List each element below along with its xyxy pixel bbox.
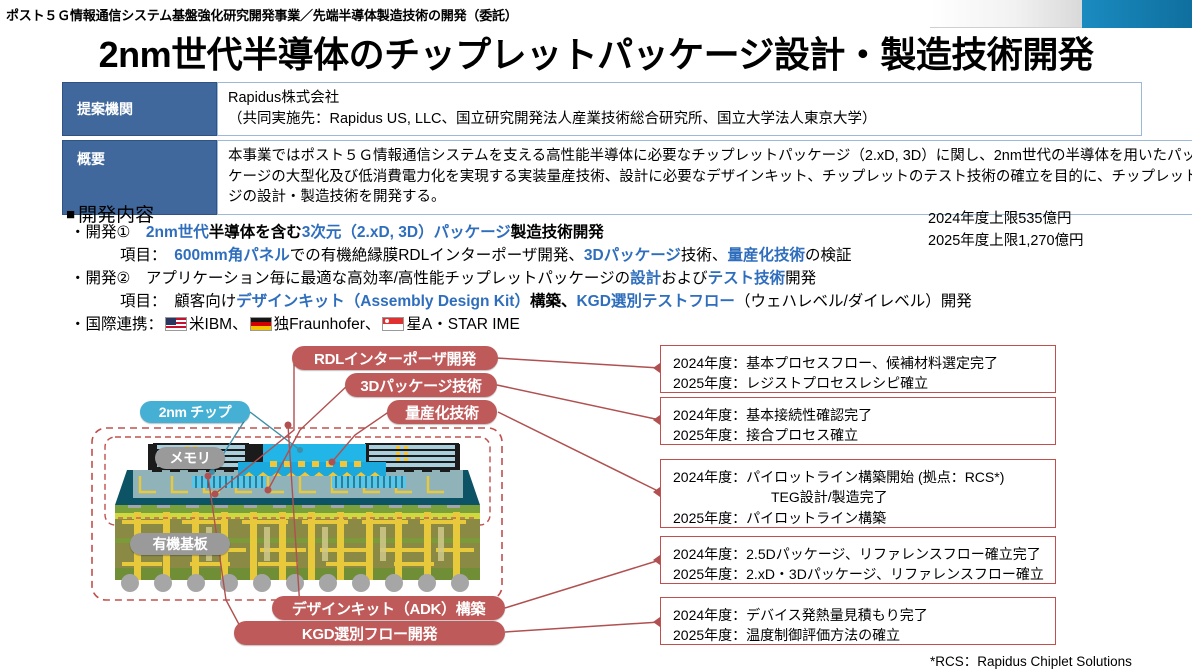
pill-kgd-flow-label: KGD選別フロー開発 [302,623,437,644]
square-bullet-icon: ■ [66,206,75,223]
pill-mass-production-label: 量産化技術 [405,402,479,423]
callout-adk: 2024年度：2.5Dパッケージ、リファレンスフロー確立完了 2025年度：2.… [660,536,1056,584]
row-value-overview: 本事業ではポスト５Ｇ情報通信システムを支える高性能半導体に必要なチップレットパッ… [217,140,1192,215]
dev-line-5: ・国際連携：米IBM、独Fraunhofer、星A・STAR IME [70,314,930,337]
label-organic-substrate: 有機基板 [130,533,230,555]
page-title: 2nm世代半導体のチップレットパッケージ設計・製造技術開発 [0,26,1192,78]
proposer-line-2: （共同実施先：Rapidus US, LLC、国立研究開発法人産業技術総合研究所… [228,109,1131,130]
dev5-prefix: ・国際連携： [70,316,163,333]
callout-3d-line-1: 2024年度：基本接続性確認完了 [673,405,1043,425]
table-row-overview: 概要 本事業ではポスト５Ｇ情報通信システムを支える高性能半導体に必要なチップレッ… [62,140,1142,215]
dev5-de-label: 独Fraunhofer、 [274,316,381,333]
budget-2025: 2025年度上限1,270億円 [928,230,1084,252]
pill-3d-package[interactable]: 3Dパッケージ技術 [345,373,497,397]
dev2-black3: の検証 [805,247,852,264]
pill-kgd-flow[interactable]: KGD選別フロー開発 [234,621,505,645]
dev1-black2: 製造技術開発 [511,224,604,241]
us-flag-icon [165,317,187,331]
pill-design-kit-label: デザインキット（ADK）構築 [292,598,485,619]
pill-design-kit[interactable]: デザインキット（ADK）構築 [272,596,505,620]
callout-adk-line-1: 2024年度：2.5Dパッケージ、リファレンスフロー確立完了 [673,544,1043,564]
dev-line-1: ・開発① 2nm世代半導体を含む3次元（2.xD, 3D）パッケージ製造技術開発 [70,222,930,245]
pill-3d-package-label: 3Dパッケージ技術 [360,375,481,396]
dev-line-3: ・開発② アプリケーション毎に最適な高効率/高性能チップレットパッケージの設計お… [70,268,930,291]
dev3-black3: 開発 [785,270,816,287]
callout-mass-production: 2024年度：パイロットライン構築開始 (拠点：RCS*) TEG設計/製造完了… [660,459,1056,528]
table-row-proposer: 提案機関 Rapidus株式会社 （共同実施先：Rapidus US, LLC、… [62,82,1142,136]
callout-mass-line-3: 2025年度：パイロットライン構築 [673,508,1043,528]
callout-3d: 2024年度：基本接続性確認完了 2025年度：接合プロセス確立 [660,397,1056,445]
budget-2024: 2024年度上限535億円 [928,208,1084,230]
dev4-black2: 構築、 [530,293,577,310]
label-memory: メモリ [155,447,225,469]
callout-kgd-line-1: 2024年度：デバイス発熱量見積もり完了 [673,605,1043,625]
pill-mass-production[interactable]: 量産化技術 [387,400,497,424]
dev2-black2: 技術、 [681,247,728,264]
pill-2nm-chip-label: 2nm チップ [159,402,232,422]
budget-block: 2024年度上限535億円 2025年度上限1,270億円 [928,208,1084,252]
dev4-prefix: 項目： [120,293,174,310]
dev3-prefix: ・開発② [70,270,146,287]
callout-kgd-line-2: 2025年度：温度制御評価方法の確立 [673,625,1043,645]
singapore-flag-icon [382,317,404,331]
dev1-blue2: 3次元（2.xD, 3D）パッケージ [302,224,511,241]
info-table: 提案機関 Rapidus株式会社 （共同実施先：Rapidus US, LLC、… [62,82,1142,219]
program-kicker: ポスト５Ｇ情報通信システム基盤強化研究開発事業／先端半導体製造技術の開発（委託） [6,5,518,24]
development-lines: ・開発① 2nm世代半導体を含む3次元（2.xD, 3D）パッケージ製造技術開発… [70,222,930,337]
callout-rdl: 2024年度：基本プロセスフロー、候補材料選定完了 2025年度：レジストプロセ… [660,345,1056,393]
dev3-blue2: テスト技術 [708,270,786,287]
pill-rdl-interposer-label: RDLインターポーザ開発 [314,348,476,369]
dev1-prefix: ・開発① [70,224,146,241]
germany-flag-icon [250,317,272,331]
callout-mass-line-1: 2024年度：パイロットライン構築開始 (拠点：RCS*) [673,467,1043,487]
overview-line-1: 本事業ではポスト５Ｇ情報通信システムを支える高性能半導体に必要なチップレットパッ… [228,146,1192,167]
row-value-proposer: Rapidus株式会社 （共同実施先：Rapidus US, LLC、国立研究開… [217,82,1142,136]
callout-rdl-line-1: 2024年度：基本プロセスフロー、候補材料選定完了 [673,353,1043,373]
dev2-blue1: 600mm角パネル [174,247,289,264]
header-gradient-bar-blue [1082,0,1192,28]
proposer-line-1: Rapidus株式会社 [228,88,1131,109]
slide-root: ポスト５Ｇ情報通信システム基盤強化研究開発事業／先端半導体製造技術の開発（委託）… [0,0,1192,671]
label-memory-text: メモリ [169,448,210,468]
dev4-blue2: KGD選別テストフロー [576,293,734,310]
dev1-blue1: 2nm世代 [146,224,209,241]
callout-mass-line-2: TEG設計/製造完了 [673,487,1043,507]
dev4-blue1: デザインキット（Assembly Design Kit） [236,293,530,310]
dev3-black1: アプリケーション毎に最適な高効率/高性能チップレットパッケージの [146,270,630,287]
dev2-prefix: 項目： [120,247,174,264]
overview-line-3: ジの設計・製造技術を開発する。 [228,187,1192,208]
header-gradient-bar-grey [930,0,1082,28]
callout-rdl-line-2: 2025年度：レジストプロセスレシピ確立 [673,373,1043,393]
dev-line-4: 項目： 顧客向けデザインキット（Assembly Design Kit）構築、K… [70,291,930,314]
pill-2nm-chip[interactable]: 2nm チップ [140,401,250,423]
callout-3d-line-2: 2025年度：接合プロセス確立 [673,425,1043,445]
callout-adk-line-2: 2025年度：2.xD・3Dパッケージ、リファレンスフロー確立 [673,564,1043,584]
pill-rdl-interposer[interactable]: RDLインターポーザ開発 [292,346,498,370]
callout-kgd: 2024年度：デバイス発熱量見積もり完了 2025年度：温度制御評価方法の確立 [660,597,1056,645]
dev4-black3: （ウェハレベル/ダイレベル）開発 [735,293,972,310]
dev2-blue3: 量産化技術 [727,247,805,264]
dev3-black2: および [661,270,708,287]
dev2-blue2: 3Dパッケージ [584,247,681,264]
overview-line-2: ケージの大型化及び低消費電力化を実現する実装量産技術、設計に必要なデザインキット… [228,167,1192,188]
dev2-black1: での有機絶縁膜RDLインターポーザ開発、 [290,247,584,264]
footnote-rcs: *RCS：Rapidus Chiplet Solutions [930,650,1132,670]
dev1-black1: 半導体を含む [209,224,302,241]
dev-line-2: 項目： 600mm角パネルでの有機絶縁膜RDLインターポーザ開発、3Dパッケージ… [70,245,930,268]
row-label-proposer: 提案機関 [62,82,217,136]
dev4-black1: 顧客向け [174,293,236,310]
dev3-blue1: 設計 [630,270,661,287]
label-organic-substrate-text: 有機基板 [153,534,208,554]
dev5-us-label: 米IBM、 [189,316,248,333]
dev5-sg-label: 星A・STAR IME [406,316,519,333]
